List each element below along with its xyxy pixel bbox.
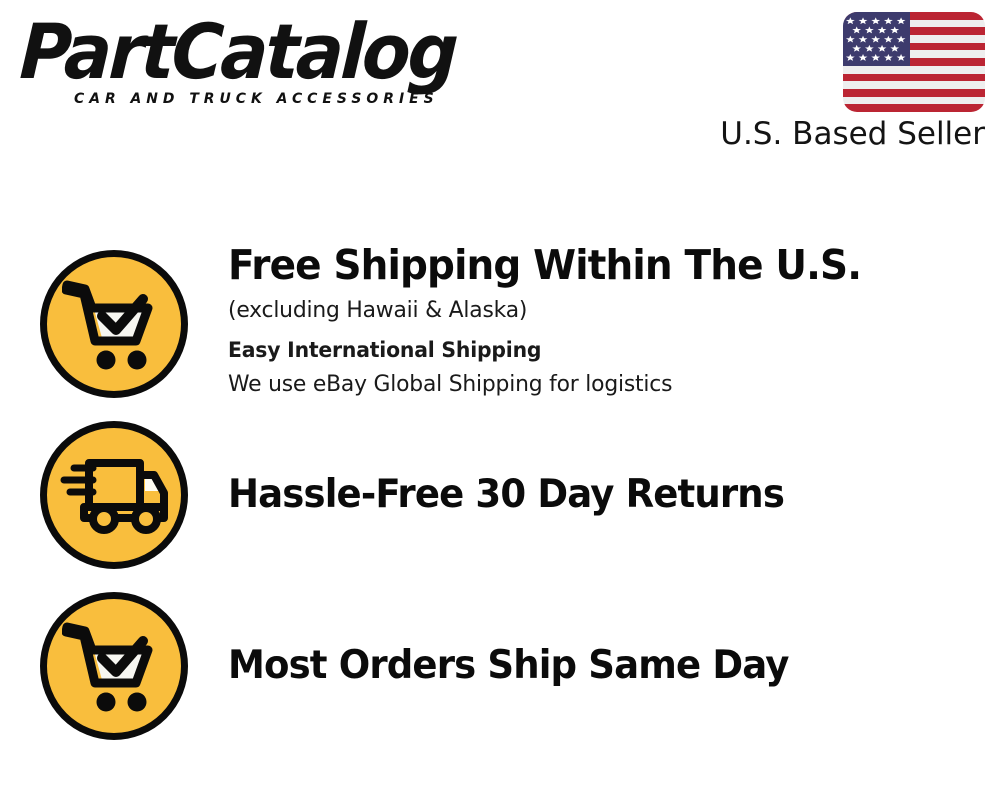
cart-check-icon xyxy=(40,250,188,398)
promo-banner: PartCatalog CAR AND TRUCK ACCESSORIES xyxy=(0,0,1000,800)
us-based-seller-label: U.S. Based Seller xyxy=(485,115,985,153)
feature-text: Free Shipping Within The U.S. (excluding… xyxy=(188,240,985,401)
feature-row: Most Orders Ship Same Day xyxy=(40,591,985,741)
feature-title: Hassle-Free 30 Day Returns xyxy=(228,471,947,519)
delivery-truck-icon xyxy=(40,421,188,569)
feature-subline: We use eBay Global Shipping for logistic… xyxy=(228,367,962,401)
brand-logo[interactable]: PartCatalog CAR AND TRUCK ACCESSORIES xyxy=(22,14,492,119)
us-flag-icon xyxy=(843,12,985,112)
feature-text: Most Orders Ship Same Day xyxy=(188,642,985,690)
cart-check-icon xyxy=(40,592,188,740)
brand-wordmark: PartCatalog xyxy=(18,14,459,90)
feature-subline: (excluding Hawaii & Alaska) xyxy=(228,293,962,327)
feature-subline-bold: Easy International Shipping xyxy=(228,335,962,365)
feature-title: Most Orders Ship Same Day xyxy=(228,642,947,690)
feature-row: Free Shipping Within The U.S. (excluding… xyxy=(40,240,985,410)
feature-text: Hassle-Free 30 Day Returns xyxy=(188,471,985,519)
feature-row: Hassle-Free 30 Day Returns xyxy=(40,421,985,569)
feature-title: Free Shipping Within The U.S. xyxy=(228,240,947,290)
flag-canton xyxy=(843,12,910,66)
brand-tagline: CAR AND TRUCK ACCESSORIES xyxy=(74,91,475,107)
